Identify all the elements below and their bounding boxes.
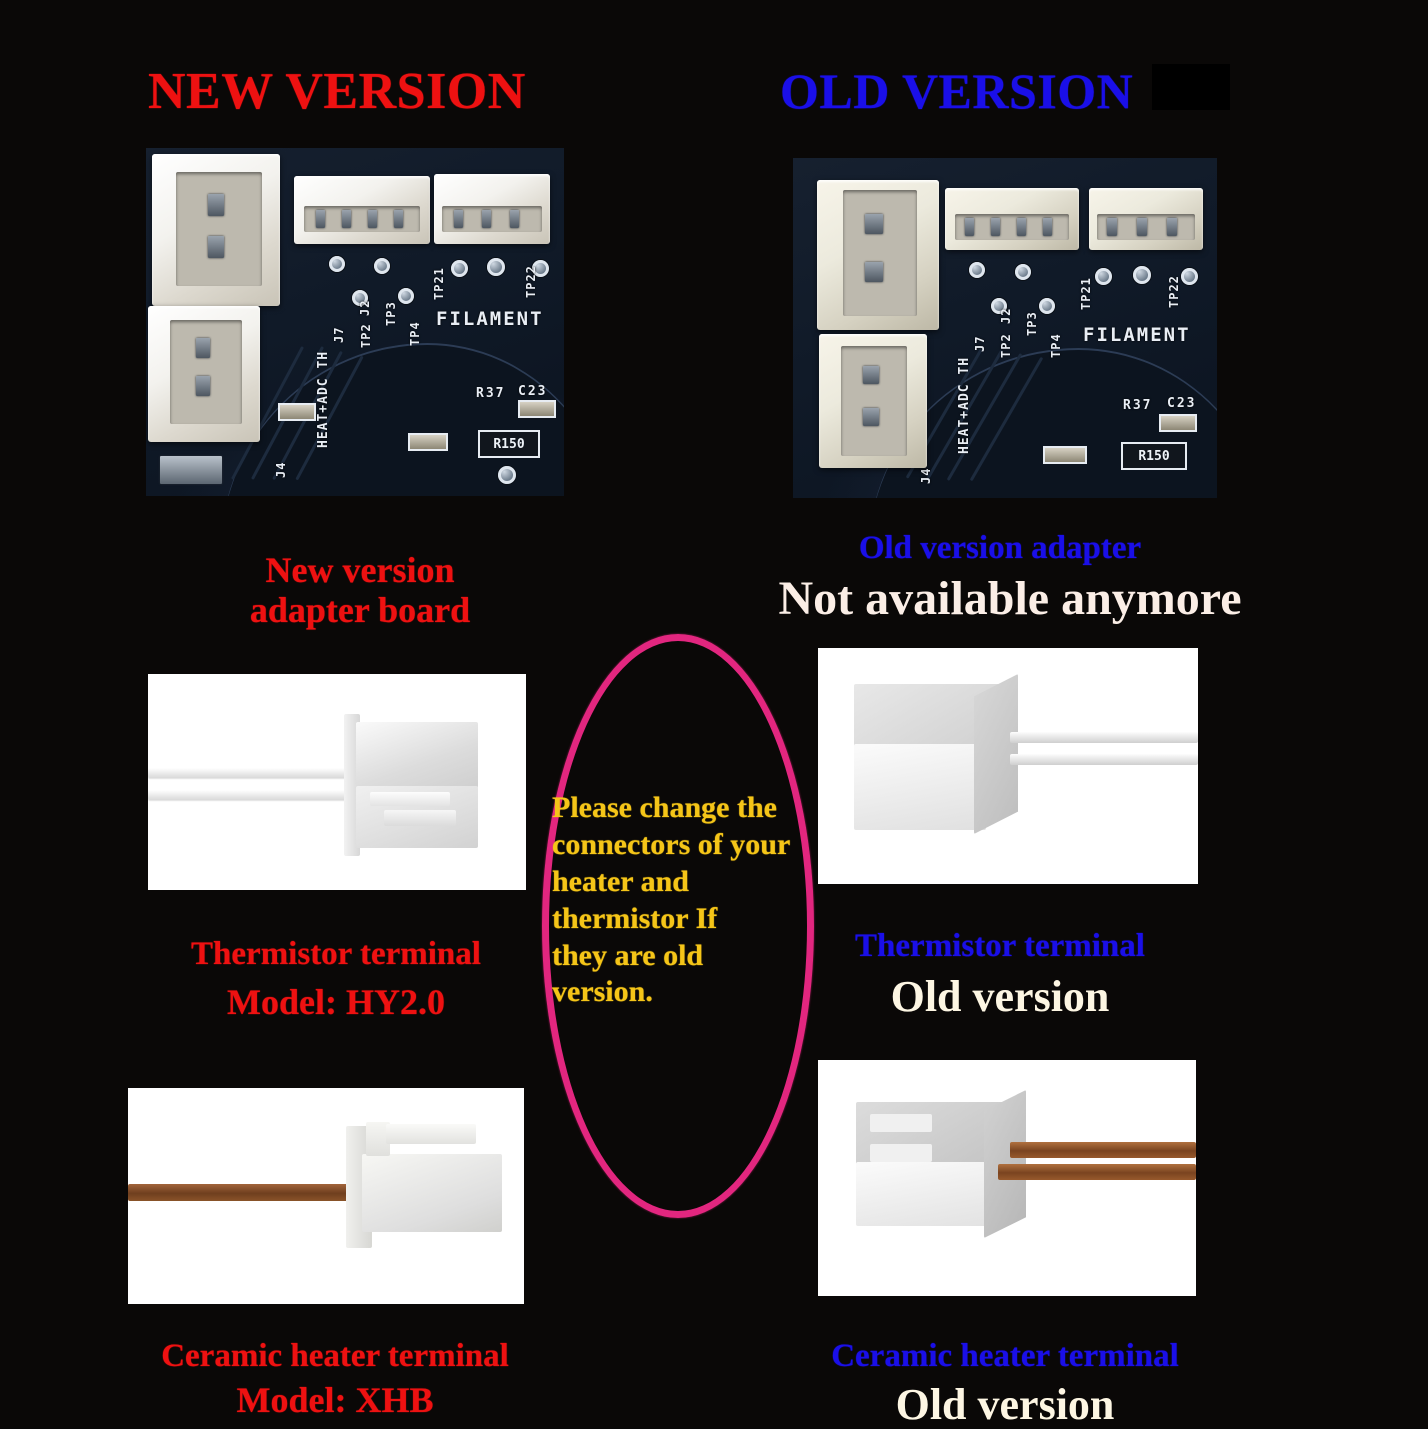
connector-2pin-large-old bbox=[817, 180, 939, 330]
silk-tp2: TP2 bbox=[359, 323, 373, 348]
caption-new-heater-line2: Model: XHB bbox=[100, 1380, 570, 1420]
silk-tp21: TP21 bbox=[432, 267, 446, 300]
silk-j4: J4 bbox=[274, 462, 288, 478]
old-adapter-board-photo: FILAMENT J2 J7 TP2 TP3 TP4 TP21 TP22 HEA… bbox=[793, 158, 1217, 498]
caption-new-heater-line1: Ceramic heater terminal bbox=[100, 1338, 570, 1375]
caption-new-thermistor-line1: Thermistor terminal bbox=[136, 936, 536, 973]
caption-old-heater-line2: Old version bbox=[770, 1380, 1240, 1429]
silk-tp3: TP3 bbox=[384, 301, 398, 326]
silk-heat-adc-th: HEAT+ADC TH bbox=[316, 351, 331, 448]
silk-j4-old: J4 bbox=[919, 468, 933, 484]
connector-3pin-old bbox=[1089, 188, 1203, 250]
caption-old-adapter-board: Old version adapter bbox=[790, 530, 1210, 567]
silk-tp4: TP4 bbox=[408, 321, 422, 346]
silk-r37: R37 bbox=[476, 386, 505, 401]
silk-tp21-old: TP21 bbox=[1079, 277, 1093, 310]
heading-old-version: OLD VERSION bbox=[780, 62, 1133, 120]
silk-r150: R150 bbox=[478, 430, 540, 458]
silk-tp22-old: TP22 bbox=[1167, 275, 1181, 308]
connector-4pin-new bbox=[294, 176, 430, 244]
heading-new-version: NEW VERSION bbox=[148, 62, 526, 121]
old-heater-terminal-photo bbox=[818, 1060, 1196, 1296]
silk-r37-old: R37 bbox=[1123, 398, 1152, 413]
silk-tp3-old: TP3 bbox=[1025, 311, 1039, 336]
silk-c23-old: C23 bbox=[1167, 396, 1196, 411]
silk-j7: J7 bbox=[332, 327, 346, 343]
caption-old-thermistor-line1: Thermistor terminal bbox=[800, 928, 1200, 965]
old-thermistor-terminal-photo bbox=[818, 648, 1198, 884]
silk-tp2-old: TP2 bbox=[999, 333, 1013, 358]
caption-new-thermistor-line2: Model: HY2.0 bbox=[136, 982, 536, 1022]
silk-filament-old: FILAMENT bbox=[1083, 324, 1191, 346]
silk-r150-old: R150 bbox=[1121, 442, 1187, 470]
callout-text: Please change the connectors of your hea… bbox=[552, 790, 804, 1011]
connector-3pin-new bbox=[434, 174, 550, 244]
connector-2pin-small-old bbox=[819, 334, 927, 468]
poster-canvas: NEW VERSION OLD VERSION bbox=[0, 0, 1428, 1428]
silk-tp22: TP22 bbox=[524, 265, 538, 298]
pcb-substrate-old: FILAMENT J2 J7 TP2 TP3 TP4 TP21 TP22 HEA… bbox=[793, 158, 1217, 498]
silk-heat-adc-th-old: HEAT+ADC TH bbox=[957, 357, 972, 454]
silk-j2: J2 bbox=[358, 300, 372, 316]
caption-not-available: Not available anymore bbox=[690, 572, 1330, 626]
silk-c23: C23 bbox=[518, 384, 547, 399]
silk-j7-old: J7 bbox=[973, 336, 987, 352]
silk-tp4-old: TP4 bbox=[1049, 333, 1063, 358]
connector-2pin-small-new bbox=[148, 306, 260, 442]
silk-j2-old: J2 bbox=[999, 308, 1013, 324]
caption-old-thermistor-line2: Old version bbox=[800, 972, 1200, 1021]
caption-old-heater-line1: Ceramic heater terminal bbox=[770, 1338, 1240, 1375]
new-thermistor-terminal-photo bbox=[148, 674, 526, 890]
caption-new-adapter-board: New version adapter board bbox=[170, 550, 550, 631]
heading-old-version-block bbox=[1152, 64, 1230, 110]
new-adapter-board-photo: FILAMENT J2 J7 TP2 TP3 TP4 TP21 TP22 HEA… bbox=[146, 148, 564, 496]
silk-filament: FILAMENT bbox=[436, 308, 544, 330]
connector-2pin-large-new bbox=[152, 154, 280, 306]
connector-4pin-old bbox=[945, 188, 1079, 250]
new-heater-terminal-photo bbox=[128, 1088, 524, 1304]
pcb-substrate-new: FILAMENT J2 J7 TP2 TP3 TP4 TP21 TP22 HEA… bbox=[146, 148, 564, 496]
